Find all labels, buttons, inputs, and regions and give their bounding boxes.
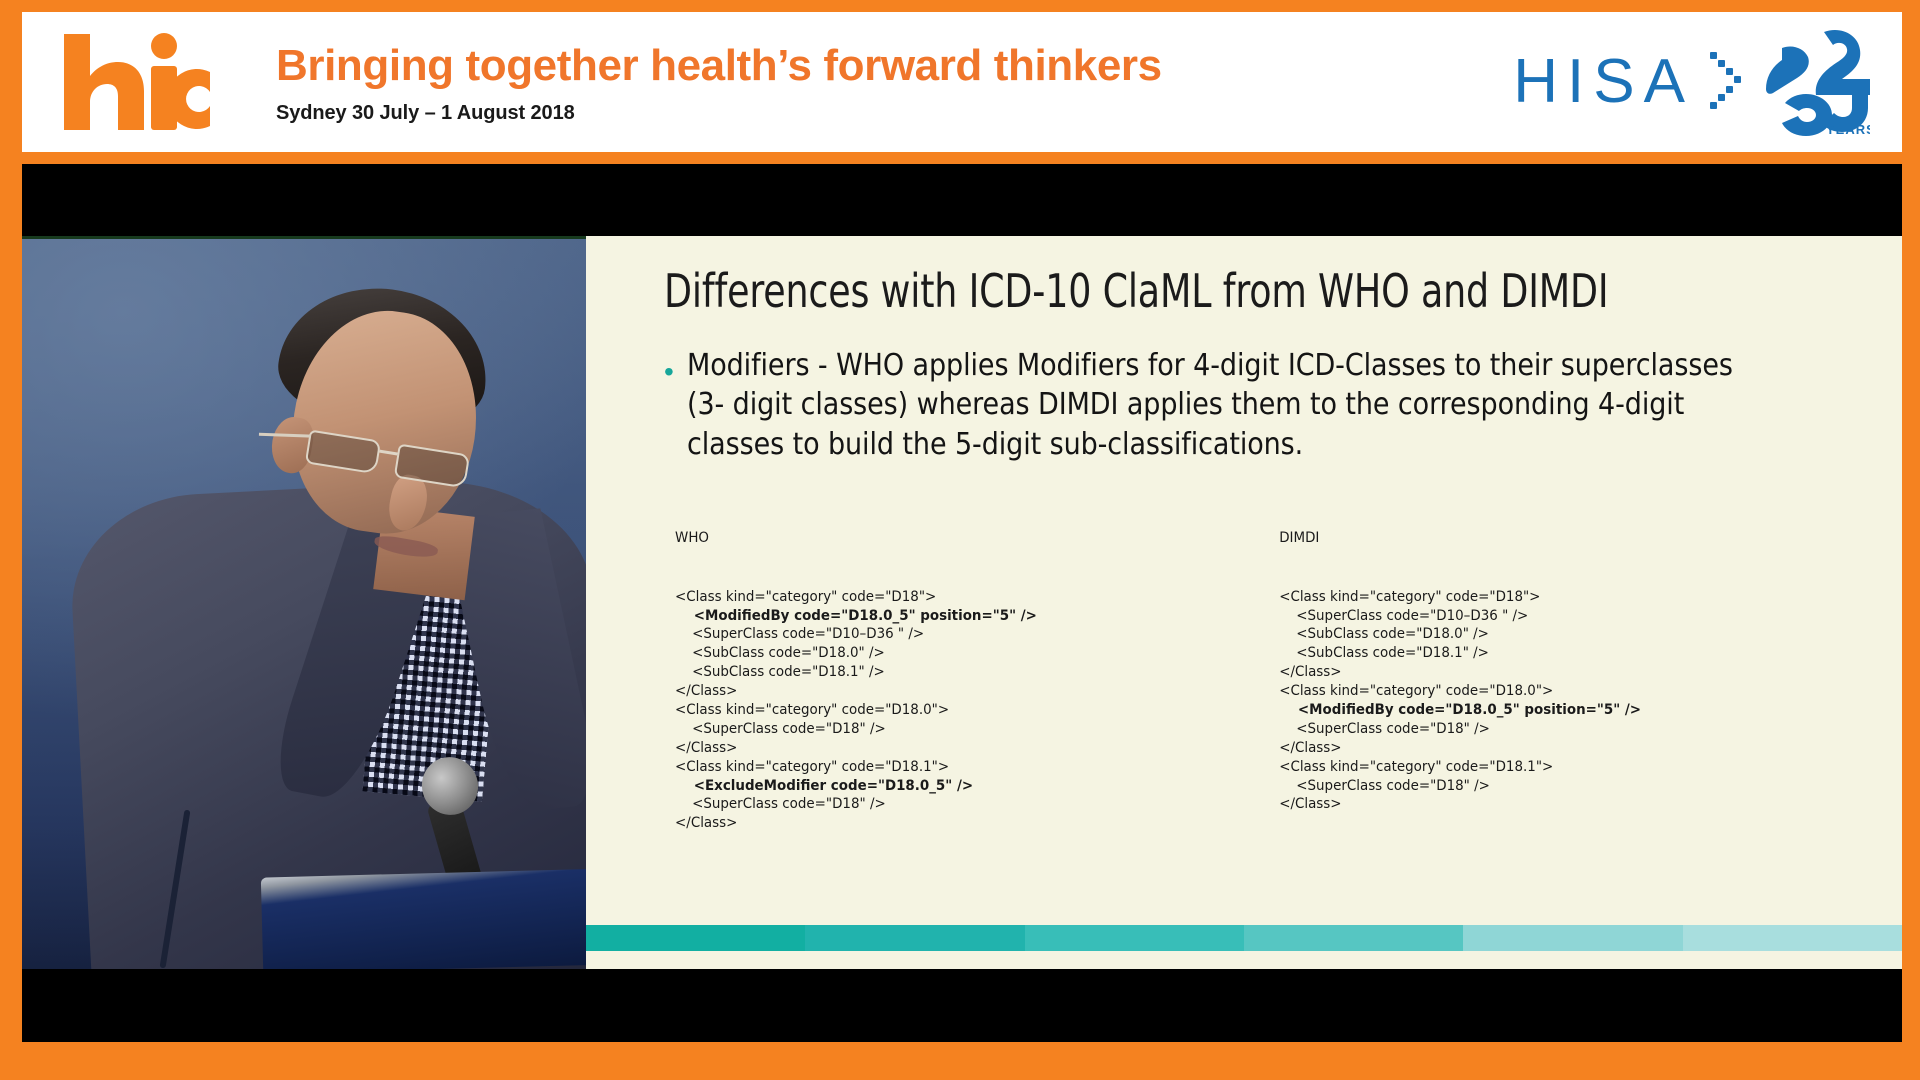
code-line: <Class kind="category" code="D18.0"> [1279,682,1702,701]
accent-bar-segment [1244,925,1463,951]
code-line: <SubClass code="D18.1" /> [675,663,1179,682]
video-stage[interactable]: Differences with ICD-10 ClaML from WHO a… [22,164,1902,1042]
hisa-wordmark: HISA [1513,51,1694,113]
bullet-text: Modifiers - WHO applies Modifiers for 4-… [687,346,1741,466]
hisa-logo-block: HISA [1513,28,1876,136]
accent-bar-segment [805,925,1024,951]
accent-bar-segment [1025,925,1244,951]
banner-title: Bringing together health’s forward think… [276,43,1513,89]
orange-frame: Bringing together health’s forward think… [0,0,1920,1080]
letterbox-top [22,164,1902,236]
code-block-dimdi: DIMDI <Class kind="category" code="D18">… [1224,491,1702,871]
chevron-right-icon [1708,44,1752,120]
code-line: <SuperClass code="D10–D36 " /> [675,625,1179,644]
laptop [261,868,586,969]
list-item: • Modifiers - WHO applies Modifiers for … [664,346,1858,466]
accent-bar-segment [586,925,805,951]
code-lines-dimdi: <Class kind="category" code="D18"> <Supe… [1279,588,1702,815]
code-line: <SubClass code="D18.1" /> [1279,644,1702,663]
code-line: <SuperClass code="D18" /> [675,795,1179,814]
code-line: <SuperClass code="D18" /> [1279,777,1702,796]
code-line: <Class kind="category" code="D18"> [675,588,1179,607]
code-heading-who: WHO [675,529,1179,548]
code-line: </Class> [1279,663,1702,682]
slide-title: Differences with ICD-10 ClaML from WHO a… [664,266,1862,318]
speaker-figure [22,239,586,969]
slide-bullet-list: • Modifiers - WHO applies Modifiers for … [664,346,1858,466]
code-line: <Class kind="category" code="D18.1"> [675,758,1179,777]
slide-accent-bar [586,925,1902,951]
code-line: <SuperClass code="D10–D36 " /> [1279,607,1702,626]
speaker-video[interactable] [22,236,586,969]
code-line: <Class kind="category" code="D18.1"> [1279,758,1702,777]
code-lines-who: <Class kind="category" code="D18"> <Modi… [675,588,1179,834]
accent-bar-segment [1683,925,1902,951]
presentation-slide: Differences with ICD-10 ClaML from WHO a… [586,236,1902,969]
code-line: <ModifiedBy code="D18.0_5" position="5" … [675,607,1179,626]
code-line: </Class> [675,814,1179,833]
hic-logo [56,28,224,136]
banner-subtitle: Sydney 30 July – 1 August 2018 [276,102,1513,125]
banner-text-block: Bringing together health’s forward think… [224,39,1513,125]
bullet-dot-icon: • [664,346,674,386]
anniversary-label: YEARS [1826,122,1870,136]
code-heading-dimdi: DIMDI [1279,529,1702,548]
conference-banner: Bringing together health’s forward think… [22,12,1902,152]
code-line: </Class> [675,682,1179,701]
code-line: </Class> [1279,795,1702,814]
code-line: <SubClass code="D18.0" /> [1279,625,1702,644]
code-line: <ExcludeModifier code="D18.0_5" /> [675,777,1179,796]
code-line: <SuperClass code="D18" /> [675,720,1179,739]
code-line: <SubClass code="D18.0" /> [675,644,1179,663]
code-line: <Class kind="category" code="D18"> [1279,588,1702,607]
code-line: <ModifiedBy code="D18.0_5" position="5" … [1279,701,1702,720]
letterbox-bottom [22,969,1902,1042]
anniversary-badge: YEARS [1766,28,1870,136]
content-row: Differences with ICD-10 ClaML from WHO a… [22,236,1902,969]
code-line: </Class> [1279,739,1702,758]
code-line: <Class kind="category" code="D18.0"> [675,701,1179,720]
accent-bar-segment [1463,925,1682,951]
code-line: </Class> [675,739,1179,758]
code-comparison: WHO <Class kind="category" code="D18"> <… [664,491,1858,871]
code-block-who: WHO <Class kind="category" code="D18"> <… [664,491,1179,871]
code-line: <SuperClass code="D18" /> [1279,720,1702,739]
